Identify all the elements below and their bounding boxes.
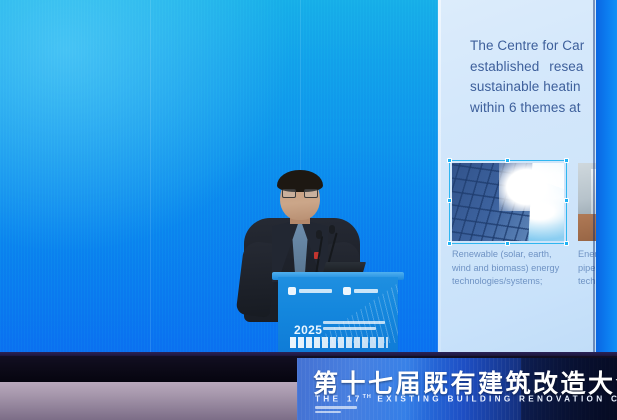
logo-wordmark [299,289,332,293]
resize-handle-bottom-right[interactable] [564,241,569,246]
podium: 2025 [278,277,398,359]
conference-photo: The Centre for Car established resea sus… [0,0,617,420]
banner-en-pre: THE 17 [315,395,363,404]
wall-right-seam [593,0,595,366]
slide-thumbnail-solar[interactable]: Renewable (solar, earth, wind and biomas… [452,163,564,289]
organizer-logo-2 [343,287,378,295]
logo-mark-icon [288,287,296,295]
resize-handle-top-center[interactable] [505,158,510,163]
resize-handle-bottom-center[interactable] [505,241,510,246]
podium-conference-title [290,337,388,348]
logo-mark-icon [343,287,351,295]
banner-en-post: EXISTING BUILDING RENOVATION CONFERENCE [372,395,617,404]
resize-handle-top-left[interactable] [447,158,452,163]
podium-logo-row [288,287,378,295]
presentation-slide: The Centre for Car established resea sus… [438,0,617,357]
selection-outline [449,160,567,244]
resize-handle-bottom-left[interactable] [447,241,452,246]
wall-right-panel [596,0,617,366]
banner-en-ordinal: TH [363,394,372,400]
microphone-head-right [329,225,335,234]
podium-subtitle-line-1 [323,321,385,324]
podium-year: 2025 [294,323,322,337]
caption-line-3: technologies/systems; [452,275,564,289]
organizer-logo-1 [288,287,332,295]
logo-wordmark [354,289,378,293]
glasses-icon [282,189,318,198]
resize-handle-middle-left[interactable] [447,198,452,203]
resize-handle-middle-right[interactable] [564,198,569,203]
banner-title-english: THE 17TH EXISTING BUILDING RENOVATION CO… [315,394,617,404]
led-panel-seam [150,0,151,366]
slide-left-edge [438,0,441,357]
conference-banner: 第十七届既有建筑改造大会 THE 17TH EXISTING BUILDING … [297,358,617,420]
podium-subtitle-lines [323,321,385,333]
thumbnail-caption-solar: Renewable (solar, earth, wind and biomas… [452,248,564,289]
banner-date-location [315,406,357,416]
resize-handle-top-right[interactable] [564,158,569,163]
banner-meta-line-2 [315,411,341,414]
podium-subtitle-line-2 [323,327,376,330]
microphone-head-left [316,230,322,239]
banner-meta-line-1 [315,406,357,409]
caption-line-2: wind and biomass) energy [452,262,564,276]
caption-line-1: Renewable (solar, earth, [452,248,564,262]
